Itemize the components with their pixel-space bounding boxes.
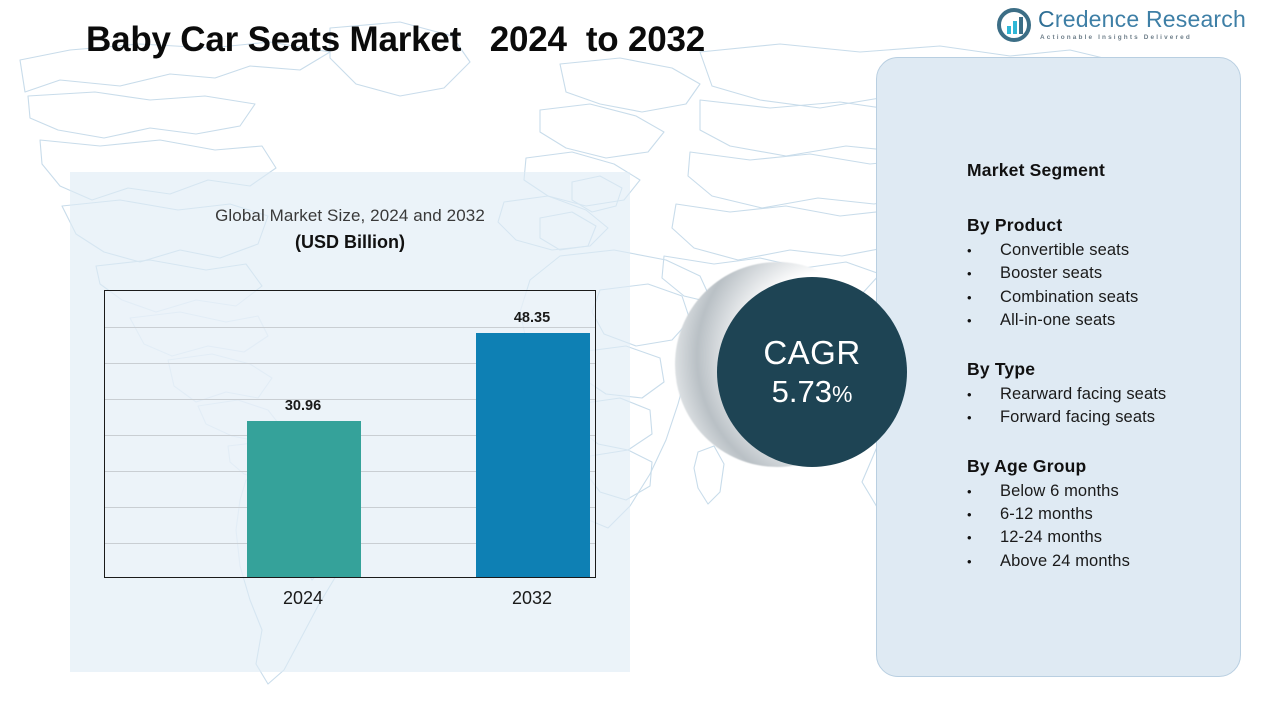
brand-name: Credence Research bbox=[1038, 8, 1246, 31]
chart-title: Global Market Size, 2024 and 2032 bbox=[70, 206, 630, 226]
segment-list-item: •Convertible seats bbox=[967, 239, 1240, 262]
segment-groups: By Product•Convertible seats•Booster sea… bbox=[967, 215, 1240, 573]
brand-name-rest: redence Research bbox=[1055, 6, 1246, 32]
segment-list-item: •Rearward facing seats bbox=[967, 383, 1240, 406]
segment-item-label: 12-24 months bbox=[1000, 526, 1102, 549]
segment-group: By Product•Convertible seats•Booster sea… bbox=[967, 215, 1240, 333]
market-segment-panel: Market Segment By Product•Convertible se… bbox=[876, 57, 1241, 677]
bullet-icon: • bbox=[967, 242, 1000, 260]
segment-list-item: •All-in-one seats bbox=[967, 309, 1240, 332]
segment-list-item: •Forward facing seats bbox=[967, 406, 1240, 429]
bullet-icon: • bbox=[967, 553, 1000, 571]
bullet-icon: • bbox=[967, 529, 1000, 547]
bullet-icon: • bbox=[967, 483, 1000, 501]
brand-name-initial: C bbox=[1038, 6, 1055, 32]
segment-item-label: 6-12 months bbox=[1000, 503, 1093, 526]
bullet-icon: • bbox=[967, 409, 1000, 427]
cagr-number: 5.73 bbox=[772, 374, 832, 409]
segment-group-title: By Age Group bbox=[967, 456, 1240, 477]
bar-chart-plot-area bbox=[104, 290, 596, 578]
segment-group: By Age Group•Below 6 months•6-12 months•… bbox=[967, 456, 1240, 574]
segment-item-label: Rearward facing seats bbox=[1000, 383, 1166, 406]
brand-logo: Credence Research Actionable Insights De… bbox=[997, 8, 1246, 42]
bar-chart-circle-icon bbox=[997, 8, 1031, 42]
segment-panel-heading: Market Segment bbox=[967, 160, 1240, 181]
gridline bbox=[105, 327, 595, 328]
segment-item-label: Forward facing seats bbox=[1000, 406, 1155, 429]
page-title: Baby Car Seats Market 2024 to 2032 bbox=[86, 20, 705, 60]
segment-list-item: •12-24 months bbox=[967, 526, 1240, 549]
cagr-badge: CAGR 5.73% bbox=[620, 250, 910, 540]
segment-list-item: •Below 6 months bbox=[967, 480, 1240, 503]
bar-2024 bbox=[247, 421, 361, 577]
segment-item-label: Booster seats bbox=[1000, 262, 1102, 285]
segment-group-title: By Type bbox=[967, 359, 1240, 380]
bar-value-label-2024: 30.96 bbox=[243, 398, 363, 414]
bullet-icon: • bbox=[967, 386, 1000, 404]
bar-2032 bbox=[476, 333, 590, 577]
category-label-2024: 2024 bbox=[243, 588, 363, 609]
segment-group-title: By Product bbox=[967, 215, 1240, 236]
cagr-percent-sign: % bbox=[832, 381, 852, 407]
cagr-value: 5.73% bbox=[772, 374, 853, 410]
cagr-label: CAGR bbox=[763, 334, 860, 372]
bullet-icon: • bbox=[967, 289, 1000, 307]
cagr-circle: CAGR 5.73% bbox=[717, 277, 907, 467]
segment-group: By Type•Rearward facing seats•Forward fa… bbox=[967, 359, 1240, 430]
segment-item-label: All-in-one seats bbox=[1000, 309, 1115, 332]
segment-list-item: •Combination seats bbox=[967, 286, 1240, 309]
segment-item-label: Below 6 months bbox=[1000, 480, 1119, 503]
segment-list-item: •Above 24 months bbox=[967, 550, 1240, 573]
segment-item-label: Combination seats bbox=[1000, 286, 1138, 309]
segment-item-label: Above 24 months bbox=[1000, 550, 1130, 573]
brand-tagline: Actionable Insights Delivered bbox=[1040, 35, 1246, 41]
chart-panel: Global Market Size, 2024 and 2032 (USD B… bbox=[70, 172, 630, 672]
chart-subtitle: (USD Billion) bbox=[70, 232, 630, 253]
bullet-icon: • bbox=[967, 312, 1000, 330]
segment-list-item: •Booster seats bbox=[967, 262, 1240, 285]
segment-list-item: •6-12 months bbox=[967, 503, 1240, 526]
segment-item-label: Convertible seats bbox=[1000, 239, 1129, 262]
category-label-2032: 2032 bbox=[472, 588, 592, 609]
bullet-icon: • bbox=[967, 265, 1000, 283]
bar-value-label-2032: 48.35 bbox=[472, 310, 592, 326]
bullet-icon: • bbox=[967, 506, 1000, 524]
